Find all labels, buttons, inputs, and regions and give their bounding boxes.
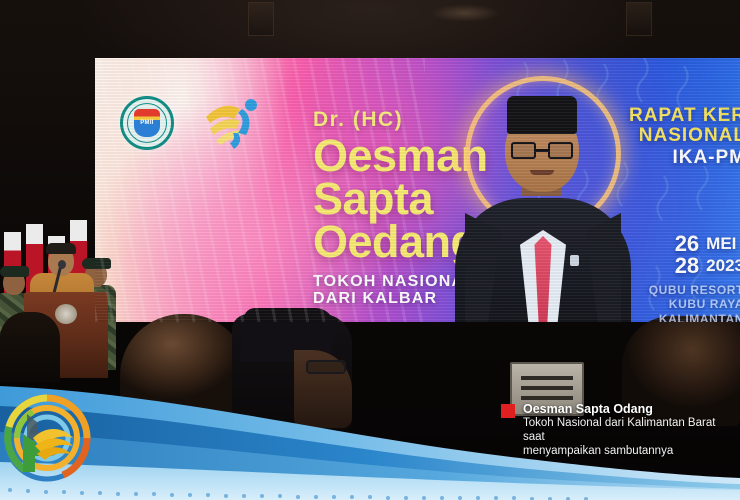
peci-cap-icon [46,243,76,254]
audience-glasses [306,360,346,374]
channel-logo [3,394,91,482]
photo-caption: Oesman Sapta Odang Tokoh Nasional dari K… [501,402,731,459]
audience-silhouette [120,314,248,422]
caption-title: Oesman Sapta Odang [523,402,731,416]
audience-silhouette [0,312,60,382]
led-scanline-overlay [95,58,740,322]
wall-panel [626,2,652,36]
led-stage-screen: PMII Dr. (HC) Oesman Sapta [95,58,740,322]
audience-silhouette [232,314,352,430]
wall-panel [248,2,274,36]
caption-subtitle: Tokoh Nasional dari Kalimantan Barat saa… [523,417,731,458]
caption-sub-line2: menyampaikan sambutannya [523,445,731,459]
pmii-emblem-label: PMII [134,120,160,126]
beret-icon [0,266,29,277]
caption-bullet-icon [501,404,515,418]
caption-sub-line1: Tokoh Nasional dari Kalimantan Barat saa… [523,417,731,445]
screenshot-root: PMII Dr. (HC) Oesman Sapta [0,0,740,500]
microphone-head-icon [58,260,66,269]
podium-emblem-icon [55,304,77,324]
ceiling-light-glow [430,4,500,22]
